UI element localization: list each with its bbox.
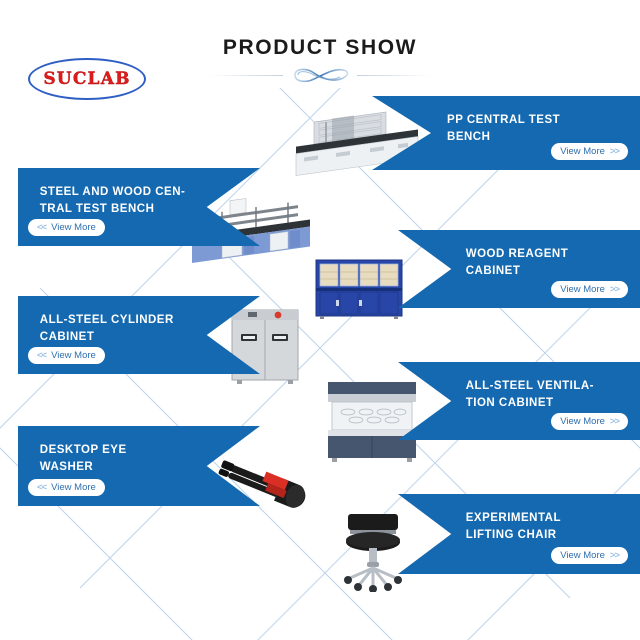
view-more-label: View More: [51, 482, 96, 493]
chevron-right-icon: >>: [610, 146, 619, 157]
chevron-right-icon: >>: [610, 284, 619, 295]
panel-title: EXPERIMENTAL LIFTING CHAIR: [466, 510, 630, 543]
product-image-all-steel-ventilation-cabinet: [322, 378, 422, 464]
view-more-label: View More: [560, 550, 605, 561]
panel-title: STEEL AND WOOD CEN- TRAL TEST BENCH: [40, 184, 202, 217]
chevron-left-icon: <<: [37, 350, 46, 361]
view-more-label: View More: [560, 146, 605, 157]
panel-title: ALL-STEEL CYLINDER CABINET: [40, 312, 202, 345]
chevron-left-icon: <<: [37, 222, 46, 233]
chevron-right-icon: >>: [610, 416, 619, 427]
view-more-button[interactable]: View More >>: [551, 413, 628, 430]
view-more-label: View More: [560, 416, 605, 427]
view-more-button[interactable]: View More >>: [551, 281, 628, 298]
panel-title: DESKTOP EYE WASHER: [40, 442, 202, 475]
view-more-button[interactable]: << View More: [28, 219, 105, 236]
page-title: PRODUCT SHOW: [0, 36, 640, 60]
product-image-wood-reagent-cabinet: [312, 258, 406, 320]
deco-line-left: [209, 75, 283, 76]
panel-title: PP CENTRAL TEST BENCH: [447, 112, 630, 145]
view-more-label: View More: [51, 222, 96, 233]
title-decoration: [0, 64, 640, 86]
product-image-all-steel-cylinder-cabinet: [228, 306, 302, 386]
chevron-right-icon: >>: [610, 550, 619, 561]
view-more-button[interactable]: << View More: [28, 347, 105, 364]
chevron-left-icon: <<: [37, 482, 46, 493]
product-show-page: SUCLAB PRODUCT SHOW: [0, 0, 640, 640]
deco-line-right: [357, 75, 431, 76]
panel-title: ALL-STEEL VENTILA- TION CABINET: [466, 378, 630, 411]
infinity-icon: [289, 64, 351, 86]
view-more-button[interactable]: View More >>: [551, 547, 628, 564]
panel-title: WOOD REAGENT CABINET: [466, 246, 630, 279]
view-more-button[interactable]: View More >>: [551, 143, 628, 160]
product-image-experimental-lifting-chair: [330, 508, 416, 592]
view-more-button[interactable]: << View More: [28, 479, 105, 496]
view-more-label: View More: [560, 284, 605, 295]
view-more-label: View More: [51, 350, 96, 361]
